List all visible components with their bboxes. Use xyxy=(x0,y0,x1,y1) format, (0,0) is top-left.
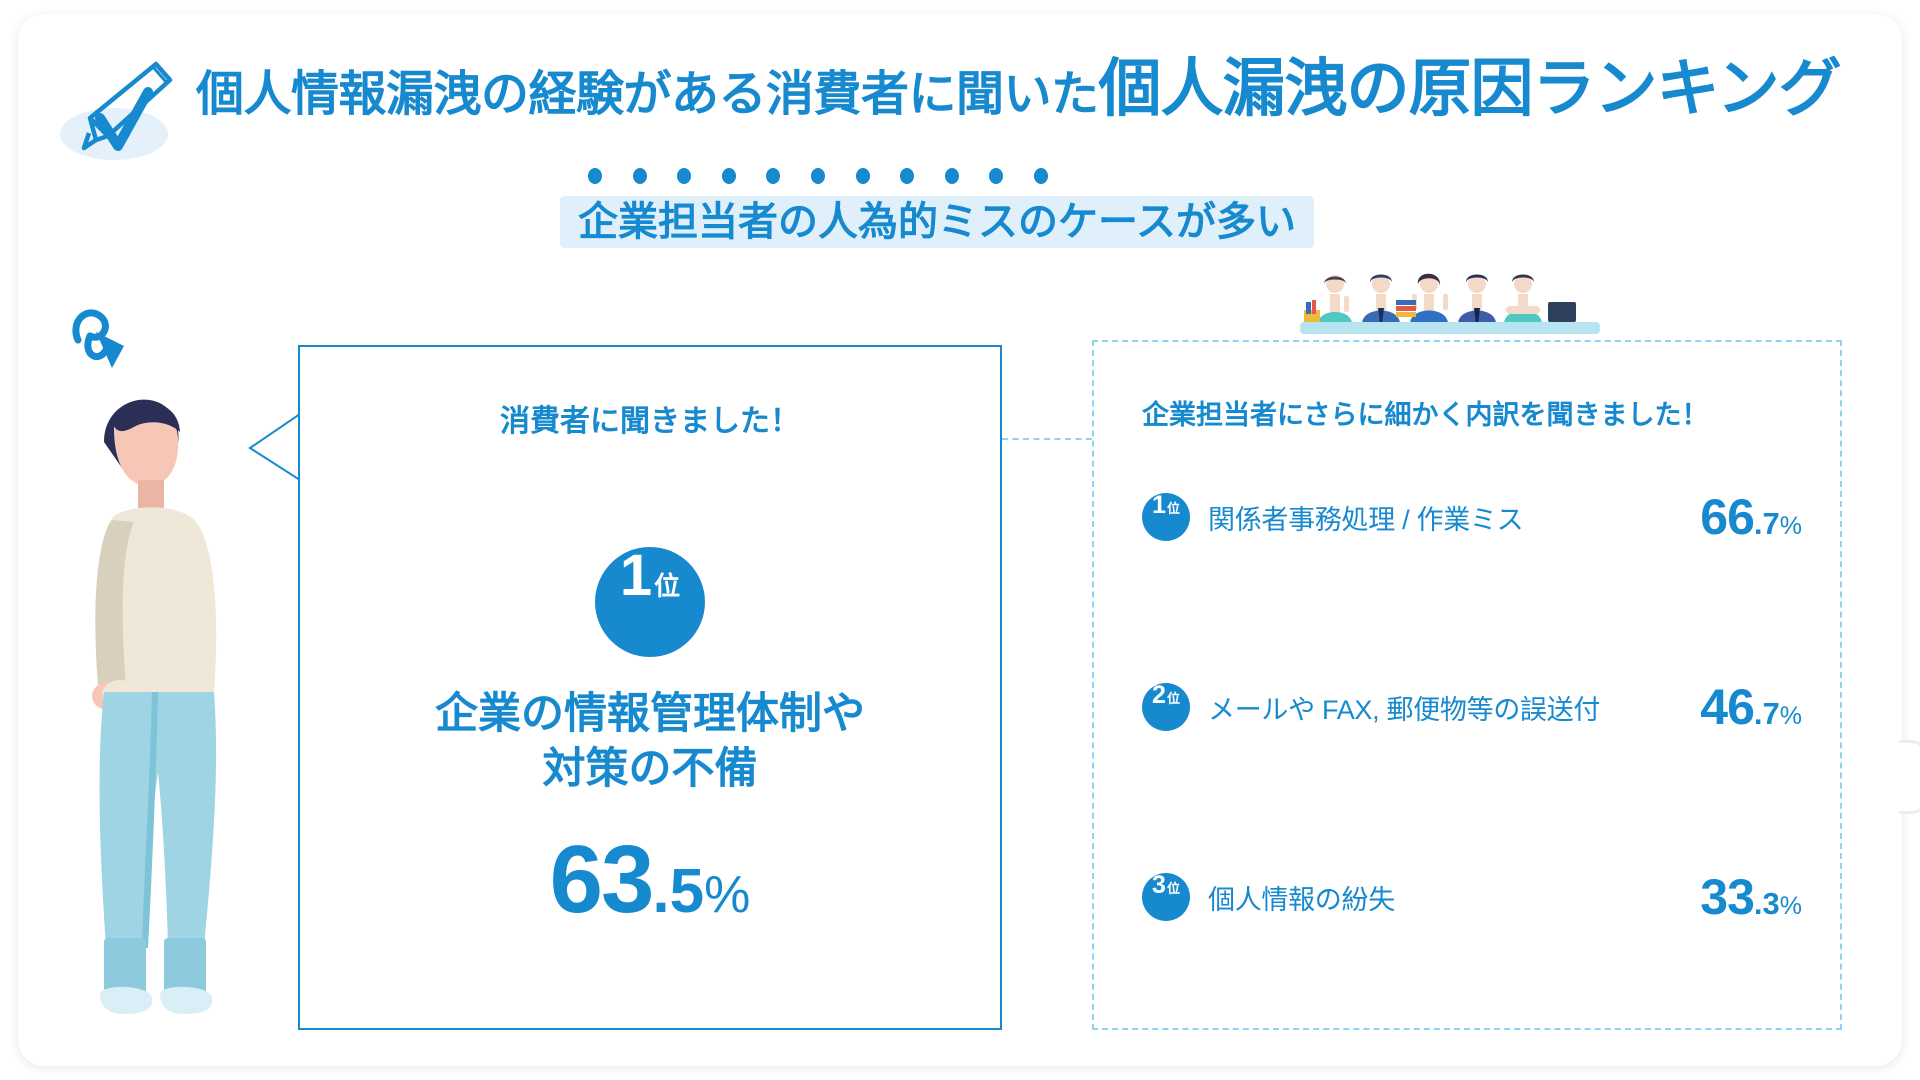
rank-suffix: 位 xyxy=(654,573,680,599)
consumer-heading-rest: に聞きました！ xyxy=(590,405,800,438)
pct-decimal: .7 xyxy=(1754,506,1780,541)
consumer-card-heading: 消費者に聞きました！ xyxy=(300,407,1000,437)
dot xyxy=(945,168,959,184)
standing-person-illustration xyxy=(52,272,252,1032)
dot xyxy=(1034,168,1048,184)
infographic-root: 個人情報漏洩の経験がある消費者に聞いた個人漏洩の原因ランキング 企業担当者の人為… xyxy=(0,0,1920,1080)
title-lead: 個人情報漏洩の経験がある消費者に聞いた xyxy=(196,68,1099,121)
subtitle-strong: 企業担当者の人為的ミス xyxy=(578,200,1018,244)
subtitle-rest: のケースが多い xyxy=(1018,200,1296,244)
cause-label: 関係者事務処理 / 作業ミス xyxy=(1190,498,1700,537)
list-item: 1位 関係者事務処理 / 作業ミス 66.7% xyxy=(1142,492,1802,682)
pct-integer: 66 xyxy=(1700,489,1754,545)
consumer-survey-card: 消費者に聞きました！ 1位 企業の情報管理体制や 対策の不備 63.5% xyxy=(298,345,1002,1030)
rank-suffix: 位 xyxy=(1167,882,1180,895)
dot xyxy=(588,168,602,184)
dot xyxy=(900,168,914,184)
consumer-heading-strong: 消費者 xyxy=(500,405,590,438)
pct-decimal: .3 xyxy=(1754,886,1780,921)
pct-symbol: % xyxy=(704,866,750,924)
dot xyxy=(989,168,1003,184)
dot xyxy=(677,168,691,184)
rank-badge: 1位 xyxy=(1142,493,1190,541)
dot xyxy=(766,168,780,184)
cause-label: 個人情報の紛失 xyxy=(1190,878,1700,917)
pct-integer: 63 xyxy=(550,826,653,933)
rank-suffix: 位 xyxy=(1167,692,1180,705)
consumer-answer-text: 企業の情報管理体制や 対策の不備 xyxy=(300,687,1000,797)
rank-badge-1: 1位 xyxy=(595,547,705,657)
answer-line-1: 企業の情報管理体制や xyxy=(300,687,1000,742)
dot xyxy=(633,168,647,184)
cause-label: メールや FAX, 郵便物等の誤送付 xyxy=(1190,688,1700,727)
rank-badge: 3位 xyxy=(1142,873,1190,921)
page-title: 個人情報漏洩の経験がある消費者に聞いた個人漏洩の原因ランキング xyxy=(196,58,1836,121)
list-item: 2位 メールや FAX, 郵便物等の誤送付 46.7% xyxy=(1142,682,1802,872)
rank-number: 2 xyxy=(1152,683,1166,708)
page-subtitle: 企業担当者の人為的ミスのケースが多い xyxy=(578,202,1296,242)
dot xyxy=(856,168,870,184)
consumer-percentage: 63.5% xyxy=(300,832,1000,928)
subtitle-highlight-band: 企業担当者の人為的ミスのケースが多い xyxy=(560,196,1314,248)
cause-percentage: 46.7% xyxy=(1700,682,1802,732)
pct-integer: 33 xyxy=(1700,869,1754,925)
pct-decimal: .5 xyxy=(652,857,704,926)
pct-symbol: % xyxy=(1780,892,1802,920)
list-item: 3位 個人情報の紛失 33.3% xyxy=(1142,872,1802,1062)
answer-line-2: 対策の不備 xyxy=(300,742,1000,797)
cause-percentage: 33.3% xyxy=(1700,872,1802,922)
business-heading-rest: にさらに細かく内訳を聞きました！ xyxy=(1277,400,1708,430)
dot xyxy=(722,168,736,184)
dot xyxy=(811,168,825,184)
pct-symbol: % xyxy=(1780,702,1802,730)
decorative-dot-row xyxy=(588,168,1048,184)
business-heading-strong: 企業担当者 xyxy=(1142,400,1277,430)
business-breakdown-panel: 企業担当者にさらに細かく内訳を聞きました！ 1位 関係者事務処理 / 作業ミス … xyxy=(1092,340,1842,1030)
title-emphasis: 個人漏洩の原因ランキング xyxy=(1099,54,1841,124)
pct-symbol: % xyxy=(1780,512,1802,540)
dashed-connector-line xyxy=(1002,438,1092,440)
cause-percentage: 66.7% xyxy=(1700,492,1802,542)
rank-suffix: 位 xyxy=(1167,502,1180,515)
business-panel-heading: 企業担当者にさらに細かく内訳を聞きました！ xyxy=(1142,402,1708,429)
meeting-people-illustration xyxy=(1300,262,1600,352)
page-edge-notch xyxy=(1899,740,1920,814)
pct-decimal: .7 xyxy=(1754,696,1780,731)
pct-integer: 46 xyxy=(1700,679,1754,735)
pen-check-icon xyxy=(52,52,192,172)
rank-badge: 2位 xyxy=(1142,683,1190,731)
rank-number: 3 xyxy=(1152,873,1166,898)
rank-number: 1 xyxy=(1152,493,1166,518)
ranking-list: 1位 関係者事務処理 / 作業ミス 66.7% 2位 メールや FAX, 郵便物… xyxy=(1142,492,1802,1062)
rank-number: 1 xyxy=(620,547,652,605)
